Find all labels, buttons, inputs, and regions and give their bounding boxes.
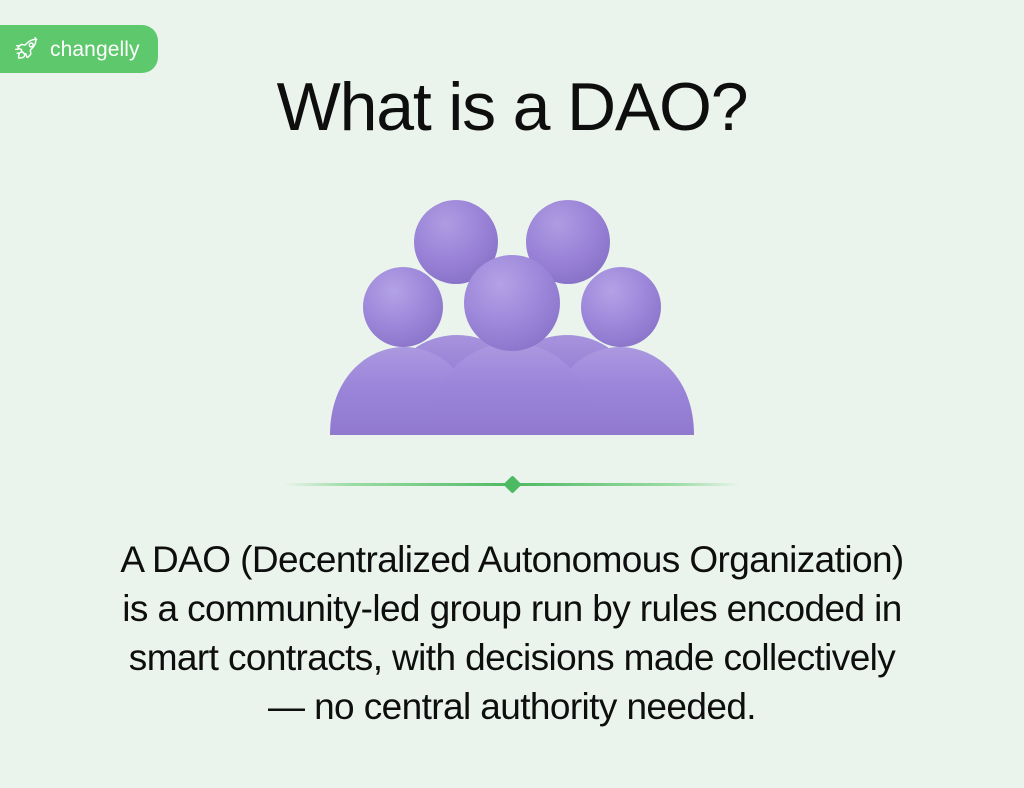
body-line-1: A DAO (Decentralized Autonomous Organiza… (52, 535, 972, 584)
brand-badge[interactable]: changelly (0, 25, 158, 73)
body-line-2: is a community-led group run by rules en… (52, 584, 972, 633)
head-mid-right (581, 267, 661, 347)
head-mid-left (363, 267, 443, 347)
brand-name: changelly (50, 39, 140, 60)
body-line-4: — no central authority needed. (52, 682, 972, 731)
divider-diamond-icon (503, 475, 521, 493)
page-title: What is a DAO? (0, 72, 1024, 143)
rocket-icon (14, 36, 41, 63)
body-line-3: smart contracts, with decisions made col… (52, 633, 972, 682)
section-divider (284, 470, 740, 498)
group-of-people-icon (322, 195, 702, 435)
head-front-center (464, 255, 560, 351)
body-copy: A DAO (Decentralized Autonomous Organiza… (52, 535, 972, 731)
